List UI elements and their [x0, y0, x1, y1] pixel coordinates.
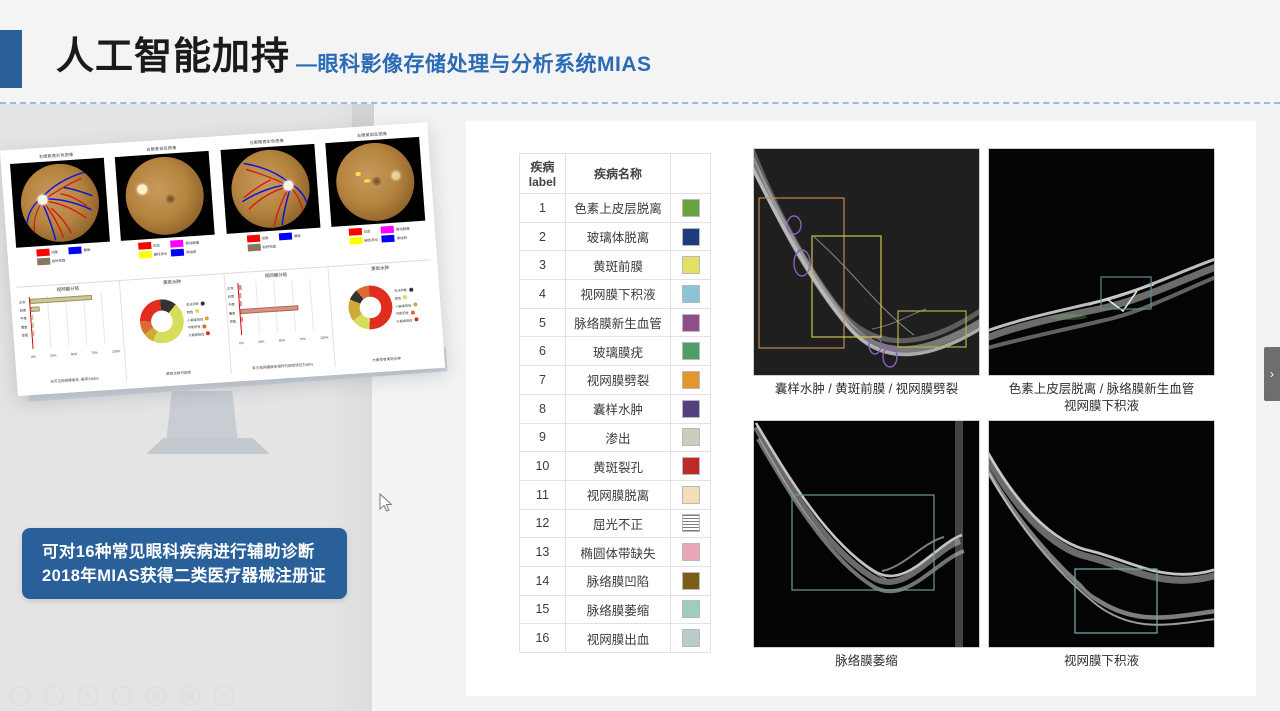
- oct-caption-4: 视网膜下积液: [988, 648, 1215, 670]
- x-tick: 100%: [112, 349, 120, 354]
- donut-legend-2: 无法判断 阴性 小概率阳性 可能阳性 大概率阳性: [394, 287, 418, 324]
- table-row: 8囊样水肿: [520, 394, 711, 423]
- more-icon[interactable]: ⋯: [214, 686, 234, 706]
- y-tick: 重度: [21, 324, 28, 329]
- color-swatch: [682, 314, 700, 332]
- play-icon[interactable]: ▷: [44, 686, 64, 706]
- legend-label: 静脉: [83, 247, 90, 252]
- cell-disease-label: 2: [520, 222, 566, 251]
- color-swatch: [682, 629, 700, 647]
- vessel-overlay: [228, 147, 312, 230]
- bar-x-labels: 0% 25% 50% 75% 100%: [239, 335, 328, 345]
- color-swatch: [682, 486, 700, 504]
- oct-caption-2: 色素上皮层脱离 / 脉络膜新生血管 视网膜下积液: [988, 376, 1215, 415]
- legend-label: 出血: [363, 228, 370, 233]
- x-tick: 0%: [239, 341, 244, 345]
- legend-item: 小概率阳性: [187, 316, 209, 322]
- callout-line-1: 可对16种常见眼科疾病进行辅助诊断: [42, 540, 327, 564]
- oct-caption-2-line1: 色素上皮层脱离 / 脉络膜新生血管: [988, 381, 1215, 398]
- x-tick: 25%: [50, 353, 57, 357]
- legend-dot: [414, 317, 418, 321]
- chart-caption: 黄斑水肿可能性: [166, 370, 192, 378]
- chart-panel-retinopathy-right: 视网膜分级 正常 轻度 中度 重度 增殖: [16, 281, 127, 388]
- oct-image-4[interactable]: [988, 420, 1215, 648]
- oct-scan-render: [754, 149, 980, 376]
- cell-disease-label: 8: [520, 394, 566, 423]
- disease-label-table: 疾病label 疾病名称 1色素上皮层脱离2玻璃体脱离3黄斑前膜4视网膜下积液5…: [519, 153, 711, 653]
- oct-scan-render: [754, 421, 980, 648]
- legend-swatch-cottonwool: [171, 248, 184, 256]
- chart-panel-macular-edema-left: 黄斑水肿 无法判断 阴性 小概率阳性 可能阳性 大概率阳性 大概率有黄斑水: [328, 260, 438, 367]
- cell-disease-color: [671, 538, 711, 567]
- cell-disease-label: 14: [520, 566, 566, 595]
- legend-item: 棉绒斑: [381, 233, 410, 242]
- legend-label: 动脉: [51, 249, 58, 254]
- panel-3-title: 左眼眼底彩色图像: [249, 138, 284, 146]
- legend-swatch-disc: [37, 257, 50, 265]
- donut-chart-1: 无法判断 阴性 小概率阳性 可能阳性 大概率阳性: [138, 285, 212, 355]
- cell-disease-label: 5: [520, 308, 566, 337]
- legend-item: 硬性渗出: [138, 249, 167, 258]
- fundus-dashboard: 右眼眼底彩色图像: [0, 122, 445, 396]
- y-tick: 增殖: [229, 318, 236, 323]
- legend-label: 可能阳性: [396, 310, 409, 316]
- fundus-image-3: [220, 144, 320, 234]
- legend-item: 动脉: [246, 234, 275, 243]
- cell-disease-color: [671, 366, 711, 395]
- bar: [31, 315, 33, 320]
- mouse-cursor: [379, 493, 393, 513]
- cell-disease-name: 视网膜出血: [565, 624, 670, 653]
- oct-caption-1: 囊样水肿 / 黄斑前膜 / 视网膜劈裂: [753, 376, 980, 398]
- cell-disease-label: 6: [520, 337, 566, 366]
- monitor-neck: [166, 391, 238, 443]
- cell-disease-name: 视网膜下积液: [565, 280, 670, 309]
- bar-chart-1: 正常 轻度 中度 重度 增殖: [19, 291, 123, 359]
- legend-item: 视杯视盘: [247, 242, 276, 251]
- cell-disease-color: [671, 222, 711, 251]
- page-subtitle: —眼科影像存储处理与分析系统MIAS: [296, 48, 652, 78]
- oct-image-1[interactable]: [753, 148, 980, 376]
- cell-disease-label: 9: [520, 423, 566, 452]
- cell-disease-color: [671, 251, 711, 280]
- color-swatch: [682, 428, 700, 446]
- x-tick: 75%: [91, 351, 98, 355]
- legend-swatch-microaneurysm: [170, 240, 183, 248]
- panel-2-title: 右眼黄斑区图像: [146, 145, 176, 153]
- table-row: 4视网膜下积液: [520, 280, 711, 309]
- color-swatch: [682, 543, 700, 561]
- oct-image-3[interactable]: [753, 420, 980, 648]
- panel-4-title: 左眼黄斑区图像: [357, 131, 387, 139]
- panel-4-legend: 出血 微动脉瘤 硬性渗出 棉绒斑: [348, 225, 410, 245]
- table-row: 10黄斑裂孔: [520, 452, 711, 481]
- legend-item: 无法判断: [186, 301, 208, 307]
- oct-image-2[interactable]: [988, 148, 1215, 376]
- legend-dot: [403, 295, 407, 299]
- slide-header: 人工智能加持 —眼科影像存储处理与分析系统MIAS: [0, 0, 1280, 104]
- oct-scan-render: [989, 421, 1215, 648]
- legend-label: 微动脉瘤: [396, 226, 410, 232]
- header-disease-name: 疾病名称: [565, 154, 670, 194]
- retina-disc: [123, 154, 207, 237]
- legend-label: 大概率阳性: [396, 317, 412, 323]
- legend-swatch-hemorrhage: [348, 228, 361, 236]
- subtitle-text: 眼科影像存储处理与分析系统MIAS: [318, 53, 652, 76]
- table-row: 15脉络膜萎缩: [520, 595, 711, 624]
- donut-legend-1: 无法判断 阴性 小概率阳性 可能阳性 大概率阳性: [186, 301, 210, 338]
- color-swatch: [682, 514, 700, 532]
- legend-swatch-artery: [246, 235, 259, 243]
- legend-dot: [413, 302, 417, 306]
- retina-disc: [228, 147, 312, 230]
- cell-disease-color: [671, 308, 711, 337]
- color-swatch: [682, 199, 700, 217]
- cell-disease-name: 椭圆体带缺失: [565, 538, 670, 567]
- legend-item: 小概率阳性: [395, 302, 417, 308]
- legend-item: 无法判断: [394, 287, 416, 293]
- cell-disease-color: [671, 624, 711, 653]
- retina-disc: [18, 161, 102, 244]
- bar: [238, 285, 241, 290]
- cell-disease-label: 12: [520, 509, 566, 538]
- x-tick: 50%: [71, 352, 78, 356]
- legend-label: 硬性渗出: [364, 236, 378, 242]
- bar: [240, 305, 298, 314]
- legend-item: 视杯视盘: [37, 256, 66, 265]
- color-swatch: [682, 342, 700, 360]
- legend-label: 无法判断: [186, 301, 199, 307]
- y-tick: 中度: [20, 316, 27, 321]
- legend-item: 硬性渗出: [349, 235, 378, 244]
- bar: [239, 293, 241, 298]
- next-slide-button[interactable]: ›: [1264, 347, 1280, 401]
- legend-label: 硬性渗出: [153, 250, 167, 256]
- legend-label: 阴性: [187, 309, 194, 314]
- color-swatch: [682, 400, 700, 418]
- legend-swatch-disc: [247, 243, 260, 251]
- legend-label: 可能阳性: [188, 324, 201, 330]
- bar-chart-2: 正常 轻度 中度 重度 增殖: [227, 277, 331, 345]
- legend-swatch-cottonwool: [381, 234, 394, 242]
- bar: [32, 331, 34, 336]
- cell-disease-name: 脉络膜萎缩: [565, 595, 670, 624]
- legend-item: 出血: [348, 227, 377, 236]
- chart-caption: 有与视网膜病变相符的病变特征为80%: [252, 362, 313, 372]
- legend-item: 可能阳性: [396, 309, 418, 315]
- table-row: 6玻璃膜疣: [520, 337, 711, 366]
- panel-3-legend: 动脉 静脉 视杯视盘: [246, 232, 301, 251]
- chart-title: 黄斑水肿: [163, 279, 181, 286]
- y-tick: 增殖: [21, 332, 28, 337]
- info-callout: 可对16种常见眼科疾病进行辅助诊断 2018年MIAS获得二类医疗器械注册证: [22, 528, 347, 599]
- legend-item: 阴性: [187, 308, 209, 314]
- legend-item: 动脉: [36, 248, 65, 257]
- legend-dot: [202, 324, 206, 328]
- monitor-base: [146, 438, 270, 454]
- cell-disease-color: [671, 566, 711, 595]
- table-header-row: 疾病label 疾病名称: [520, 154, 711, 194]
- chart-panel-retinopathy-left: 视网膜分级 正常 轻度 中度 重度 增殖: [224, 267, 335, 374]
- zoom-icon[interactable]: ◎: [146, 686, 166, 706]
- retina-disc: [334, 140, 418, 223]
- cell-disease-name: 色素上皮层脱离: [565, 194, 670, 223]
- y-tick: 中度: [228, 302, 235, 307]
- cell-disease-color: [671, 280, 711, 309]
- cell-disease-color: [671, 194, 711, 223]
- cell-disease-name: 黄斑裂孔: [565, 452, 670, 481]
- legend-item: 可能阳性: [188, 323, 210, 329]
- chart-caption: 大概率有黄斑水肿: [372, 357, 401, 365]
- legend-label: 棉绒斑: [186, 248, 197, 254]
- dashboard-panel-2: 右眼黄斑区图像 出血 微动脉瘤 硬性渗出 棉绒斑: [112, 143, 221, 277]
- legend-swatch-microaneurysm: [381, 226, 394, 234]
- legend-dot: [201, 301, 205, 305]
- bar: [32, 323, 34, 328]
- cell-disease-color: [671, 394, 711, 423]
- exudate-marker: [364, 179, 370, 182]
- cell-disease-color: [671, 509, 711, 538]
- bar: [31, 306, 40, 312]
- legend-label: 小概率阳性: [395, 302, 411, 308]
- fundus-image-2: [115, 151, 215, 241]
- legend-dot: [410, 310, 414, 314]
- table-row: 13椭圆体带缺失: [520, 538, 711, 567]
- dashboard-panel-3: 左眼眼底彩色图像: [217, 136, 326, 270]
- table-row: 2玻璃体脱离: [520, 222, 711, 251]
- page-title: 人工智能加持: [56, 33, 290, 81]
- cell-disease-color: [671, 337, 711, 366]
- pen-icon[interactable]: ✎: [78, 686, 98, 706]
- cell-disease-name: 玻璃膜疣: [565, 337, 670, 366]
- legend-item: 出血: [138, 241, 167, 250]
- optic-disc-marker: [137, 184, 148, 195]
- table-row: 16视网膜出血: [520, 624, 711, 653]
- cell-disease-label: 11: [520, 480, 566, 509]
- legend-label: 小概率阳性: [187, 316, 203, 322]
- bar-y-labels: 正常 轻度 中度 重度 增殖: [19, 299, 28, 337]
- chart-title: 视网膜分级: [265, 272, 288, 279]
- cell-disease-color: [671, 452, 711, 481]
- cell-disease-label: 13: [520, 538, 566, 567]
- cell-disease-label: 1: [520, 194, 566, 223]
- prev-icon[interactable]: ◁: [10, 686, 30, 706]
- oct-caption-2-line2: 视网膜下积液: [988, 398, 1215, 415]
- color-swatch: [682, 285, 700, 303]
- color-swatch: [682, 572, 700, 590]
- vessel-overlay: [18, 161, 102, 244]
- table-row: 7视网膜劈裂: [520, 366, 711, 395]
- y-tick: 正常: [19, 299, 26, 304]
- table-row: 3黄斑前膜: [520, 251, 711, 280]
- panel-1-title: 右眼眼底彩色图像: [39, 152, 74, 160]
- panel-2-legend: 出血 微动脉瘤 硬性渗出 棉绒斑: [138, 239, 200, 259]
- x-tick: 75%: [299, 337, 306, 341]
- x-tick: 100%: [320, 335, 328, 340]
- color-swatch: [682, 457, 700, 475]
- legend-label: 棉绒斑: [396, 234, 407, 240]
- legend-swatch-vein: [68, 246, 81, 254]
- dashboard-image-row: 右眼眼底彩色图像: [6, 129, 430, 284]
- optic-disc-marker: [392, 171, 401, 180]
- legend-swatch-hemorrhage: [138, 242, 151, 250]
- slide-root: 人工智能加持 —眼科影像存储处理与分析系统MIAS 右眼眼底彩色图像: [0, 0, 1280, 711]
- x-tick: 25%: [258, 340, 265, 344]
- cell-disease-label: 16: [520, 624, 566, 653]
- oct-cell-4: 视网膜下积液: [988, 420, 1215, 670]
- legend-dot: [206, 331, 210, 335]
- legend-item: 阴性: [395, 294, 417, 300]
- table-row: 9渗出: [520, 423, 711, 452]
- fundus-image-1: [10, 158, 110, 248]
- chart-title: 视网膜分级: [57, 286, 80, 293]
- content-panel: 疾病label 疾病名称 1色素上皮层脱离2玻璃体脱离3黄斑前膜4视网膜下积液5…: [466, 121, 1256, 696]
- y-tick: 正常: [227, 285, 234, 290]
- cell-disease-name: 脉络膜凹陷: [565, 566, 670, 595]
- legend-label: 静脉: [294, 233, 301, 238]
- table-row: 1色素上皮层脱离: [520, 194, 711, 223]
- cell-disease-color: [671, 595, 711, 624]
- color-swatch: [682, 371, 700, 389]
- table-row: 11视网膜脱离: [520, 480, 711, 509]
- bar-y-labels: 正常 轻度 中度 重度 增殖: [227, 285, 236, 323]
- macula-marker: [166, 194, 176, 204]
- legend-swatch-exudate: [349, 236, 362, 244]
- notes-icon[interactable]: ▤: [180, 686, 200, 706]
- bar: [240, 317, 242, 322]
- color-swatch: [682, 228, 700, 246]
- cell-disease-label: 4: [520, 280, 566, 309]
- cell-disease-color: [671, 480, 711, 509]
- cell-disease-name: 渗出: [565, 423, 670, 452]
- oct-cell-3: 脉络膜萎缩: [753, 420, 980, 670]
- legend-swatch-artery: [36, 249, 49, 257]
- cell-disease-label: 3: [520, 251, 566, 280]
- cell-disease-label: 7: [520, 366, 566, 395]
- bottom-toolbar: ◁ ▷ ✎ ⌂ ◎ ▤ ⋯: [0, 680, 1280, 711]
- cell-disease-name: 囊样水肿: [565, 394, 670, 423]
- legend-item: 静脉: [279, 232, 301, 240]
- callout-line-2: 2018年MIAS获得二类医疗器械注册证: [42, 564, 327, 588]
- legend-swatch-exudate: [138, 250, 151, 258]
- donut-ring: [139, 298, 186, 345]
- monitor-mockup: 右眼眼底彩色图像: [18, 150, 448, 420]
- cell-disease-label: 10: [520, 452, 566, 481]
- chart-title: 黄斑水肿: [371, 265, 389, 272]
- legend-label: 出血: [153, 242, 160, 247]
- table-row: 5脉络膜新生血管: [520, 308, 711, 337]
- cell-disease-name: 视网膜脱离: [565, 480, 670, 509]
- legend-item: 静脉: [68, 246, 90, 254]
- oct-scan-render: [989, 149, 1215, 376]
- legend-dot: [409, 287, 413, 291]
- dashboard-panel-4: 左眼黄斑区图像 出血 微动脉瘤 硬性渗出: [322, 129, 431, 263]
- legend-label: 微动脉瘤: [185, 240, 199, 246]
- legend-label: 阴性: [395, 295, 402, 300]
- oct-cell-1: 囊样水肿 / 黄斑前膜 / 视网膜劈裂: [753, 148, 980, 398]
- table-body: 1色素上皮层脱离2玻璃体脱离3黄斑前膜4视网膜下积液5脉络膜新生血管6玻璃膜疣7…: [520, 194, 711, 653]
- y-tick: 重度: [229, 310, 236, 315]
- dashboard-panel-1: 右眼眼底彩色图像: [6, 150, 115, 284]
- donut-ring: [347, 284, 394, 331]
- x-tick: 0%: [31, 355, 36, 359]
- color-swatch: [682, 600, 700, 618]
- bar-x-labels: 0% 25% 50% 75% 100%: [31, 349, 120, 359]
- header-disease-label: 疾病label: [520, 154, 566, 194]
- cell-disease-name: 屈光不正: [565, 509, 670, 538]
- donut-chart-2: 无法判断 阴性 小概率阳性 可能阳性 大概率阳性: [346, 271, 420, 341]
- table-row: 12屈光不正: [520, 509, 711, 538]
- cell-disease-name: 脉络膜新生血管: [565, 308, 670, 337]
- chart-caption: 无可见视网膜病变, 概率为85%: [50, 377, 99, 386]
- bar: [239, 301, 241, 306]
- header-color: [671, 154, 711, 194]
- y-tick: 轻度: [20, 307, 27, 312]
- legend-item: 大概率阳性: [396, 317, 418, 323]
- macula-marker: [372, 176, 382, 186]
- header-accent-bar: [0, 30, 22, 88]
- cell-disease-name: 玻璃体脱离: [565, 222, 670, 251]
- oct-cell-2: 色素上皮层脱离 / 脉络膜新生血管 视网膜下积液: [988, 148, 1215, 415]
- legend-label: 动脉: [261, 235, 268, 240]
- fundus-image-4: [326, 137, 426, 227]
- legend-swatch-vein: [279, 232, 292, 240]
- legend-item: 大概率阳性: [188, 331, 210, 337]
- monitor-screen: 右眼眼底彩色图像: [0, 122, 445, 396]
- chart-panel-macular-edema-right: 黄斑水肿 无法判断 阴性 小概率阳性 可能阳性 大概率阳性 黄斑水肿可能性: [120, 274, 231, 381]
- color-swatch: [682, 256, 700, 274]
- legend-dot: [205, 316, 209, 320]
- legend-dot: [195, 309, 199, 313]
- subtitle-dash: —: [296, 53, 318, 76]
- legend-label: 大概率阳性: [188, 331, 204, 337]
- oct-caption-3: 脉络膜萎缩: [753, 648, 980, 670]
- x-tick: 50%: [279, 338, 286, 342]
- home-icon[interactable]: ⌂: [112, 686, 132, 706]
- table-head: 疾病label 疾病名称: [520, 154, 711, 194]
- legend-item: 微动脉瘤: [170, 239, 199, 248]
- cell-disease-label: 15: [520, 595, 566, 624]
- cell-disease-name: 黄斑前膜: [565, 251, 670, 280]
- cell-disease-name: 视网膜劈裂: [565, 366, 670, 395]
- table-row: 14脉络膜凹陷: [520, 566, 711, 595]
- legend-label: 视杯视盘: [262, 243, 276, 249]
- panel-1-legend: 动脉 静脉 视杯视盘: [36, 246, 91, 265]
- oct-image-grid: 囊样水肿 / 黄斑前膜 / 视网膜劈裂: [753, 148, 1215, 668]
- legend-item: 微动脉瘤: [381, 225, 410, 234]
- legend-label: 无法判断: [394, 287, 407, 293]
- legend-item: 棉绒斑: [171, 247, 200, 256]
- cell-disease-color: [671, 423, 711, 452]
- y-tick: 轻度: [228, 294, 235, 299]
- exudate-marker: [356, 172, 361, 176]
- legend-label: 视杯视盘: [52, 257, 66, 263]
